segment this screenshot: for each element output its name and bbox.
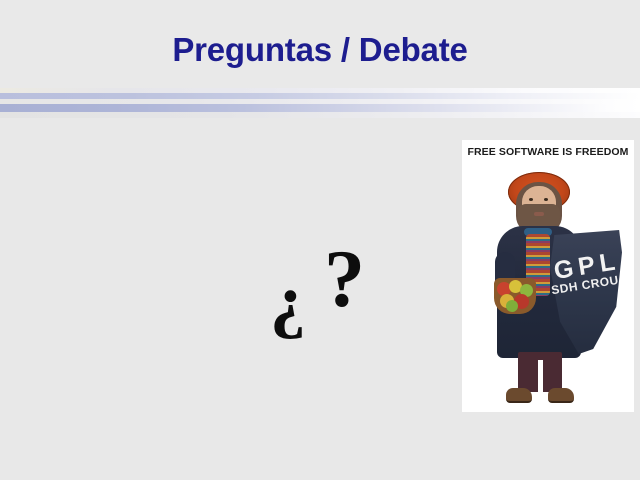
fruit: [506, 300, 518, 312]
stallman-photo-card: FREE SOFTWARE IS FREEDOM GPL: [462, 140, 634, 412]
photo-illustration: GPL SDH CROU: [462, 160, 634, 412]
presentation-slide: Preguntas / Debate ¿ ? FREE SOFTWARE IS …: [0, 0, 640, 480]
photo-caption: FREE SOFTWARE IS FREEDOM: [462, 146, 634, 158]
question-mark: ?: [324, 238, 365, 320]
shoe-right: [548, 388, 574, 403]
question-marks-group: ¿ ?: [262, 236, 392, 346]
inverted-question-mark: ¿: [270, 264, 306, 336]
stripe-line-4: [0, 104, 640, 112]
page-title: Preguntas / Debate: [0, 31, 640, 69]
leg-gap: [538, 360, 543, 392]
slide-header: Preguntas / Debate: [0, 0, 640, 88]
shoe-left: [506, 388, 532, 403]
eye-right: [544, 198, 548, 201]
fruit-basket: [494, 278, 536, 314]
mouth: [534, 212, 544, 216]
slide-footer: Leonardo Tadei – Pegasus Tech Supply - h…: [0, 432, 640, 480]
decorative-stripe-band: [0, 88, 640, 118]
eye-left: [529, 198, 533, 201]
